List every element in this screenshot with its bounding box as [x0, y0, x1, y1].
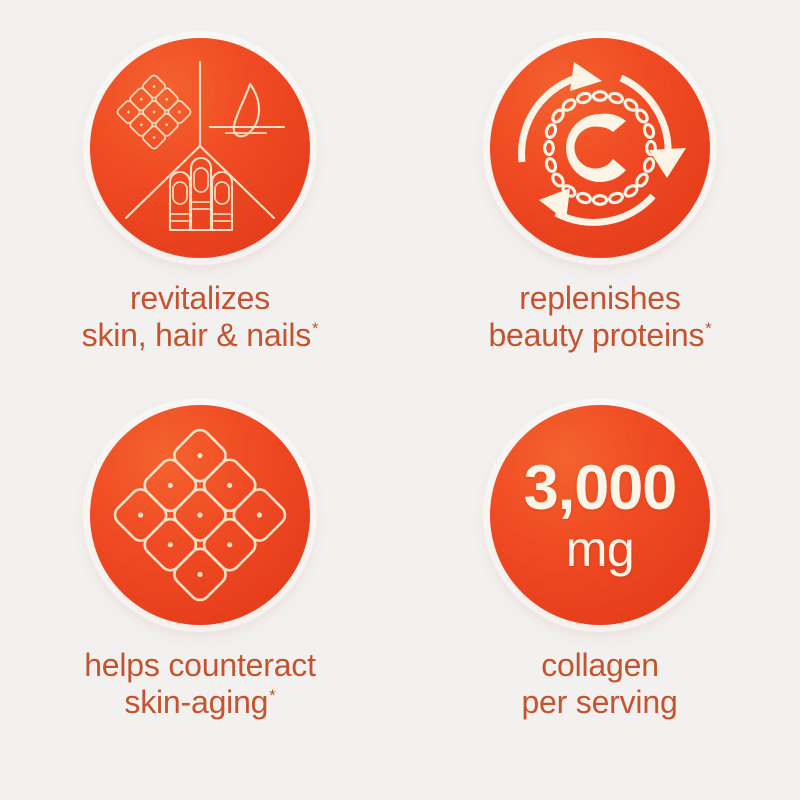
dosage-amount-icon: 3,000 mg	[490, 405, 710, 625]
footnote-marker: *	[705, 319, 711, 338]
dose-text-group: 3,000 mg	[490, 405, 710, 625]
caption-line-1: replenishes	[519, 280, 680, 316]
caption-line-1: collagen	[541, 647, 659, 683]
caption-line-2: beauty proteins*	[488, 317, 711, 354]
caption-line-2: skin, hair & nails*	[82, 317, 319, 354]
benefit-caption-counteract-aging: helps counteract skin-aging*	[84, 647, 316, 721]
caption-line-2: per serving	[521, 684, 678, 721]
benefit-caption-revitalizes: revitalizes skin, hair & nails*	[82, 280, 319, 354]
skin-cell-matrix-icon	[90, 405, 310, 625]
caption-line-2: skin-aging*	[84, 684, 316, 721]
footnote-marker: *	[269, 686, 275, 705]
benefit-card-counteract-aging: helps counteract skin-aging*	[0, 400, 400, 800]
dose-amount: 3,000	[524, 457, 677, 520]
benefit-card-dose: 3,000 mg collagen per serving	[400, 400, 800, 800]
benefit-caption-dose: collagen per serving	[521, 647, 678, 721]
benefit-caption-replenishes: replenishes beauty proteins*	[488, 280, 711, 354]
benefits-infographic: revitalizes skin, hair & nails*	[0, 0, 800, 800]
footnote-marker: *	[312, 319, 318, 338]
caption-line-1: helps counteract	[84, 647, 316, 683]
collagen-cycle-c-icon	[490, 38, 710, 258]
benefit-card-revitalizes: revitalizes skin, hair & nails*	[0, 0, 400, 400]
skin-hair-nails-icon	[90, 38, 310, 258]
caption-line-1: revitalizes	[130, 280, 270, 316]
dose-unit: mg	[566, 524, 634, 574]
benefit-card-replenishes: replenishes beauty proteins*	[400, 0, 800, 400]
